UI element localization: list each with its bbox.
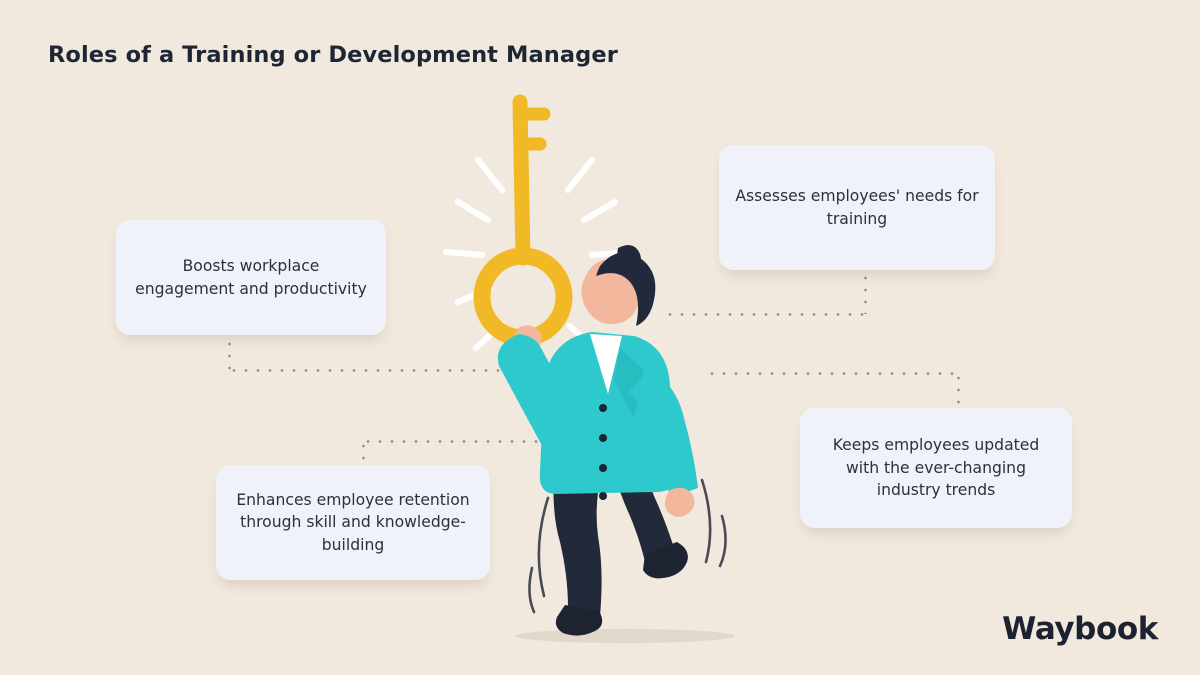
connector-assesses-vertical <box>864 272 867 314</box>
hair-topknot <box>617 245 641 268</box>
role-card-keeps-text: Keeps employees updated with the ever-ch… <box>816 434 1056 502</box>
infographic-canvas: Roles of a Training or Development Manag… <box>0 0 1200 675</box>
lowered-arm-hand <box>665 488 695 517</box>
role-card-enhances[interactable]: Enhances employee retention through skil… <box>216 465 490 580</box>
role-card-assesses-text: Assesses employees' needs for training <box>735 185 979 230</box>
key-bow <box>482 256 564 338</box>
connector-boosts-vertical <box>228 338 231 371</box>
ground-shadow <box>515 629 735 643</box>
role-card-assesses[interactable]: Assesses employees' needs for training <box>719 145 995 270</box>
connector-enhances-vertical <box>362 440 365 466</box>
golden-key-icon <box>520 102 544 258</box>
role-card-enhances-text: Enhances employee retention through skil… <box>232 489 474 557</box>
waybook-logo: Waybook <box>1002 611 1158 647</box>
page-title: Roles of a Training or Development Manag… <box>48 42 618 68</box>
role-card-boosts-text: Boosts workplace engagement and producti… <box>132 255 370 300</box>
role-card-boosts[interactable]: Boosts workplace engagement and producti… <box>116 220 386 335</box>
connector-keeps-vertical <box>957 372 960 410</box>
role-card-keeps[interactable]: Keeps employees updated with the ever-ch… <box>800 408 1072 528</box>
